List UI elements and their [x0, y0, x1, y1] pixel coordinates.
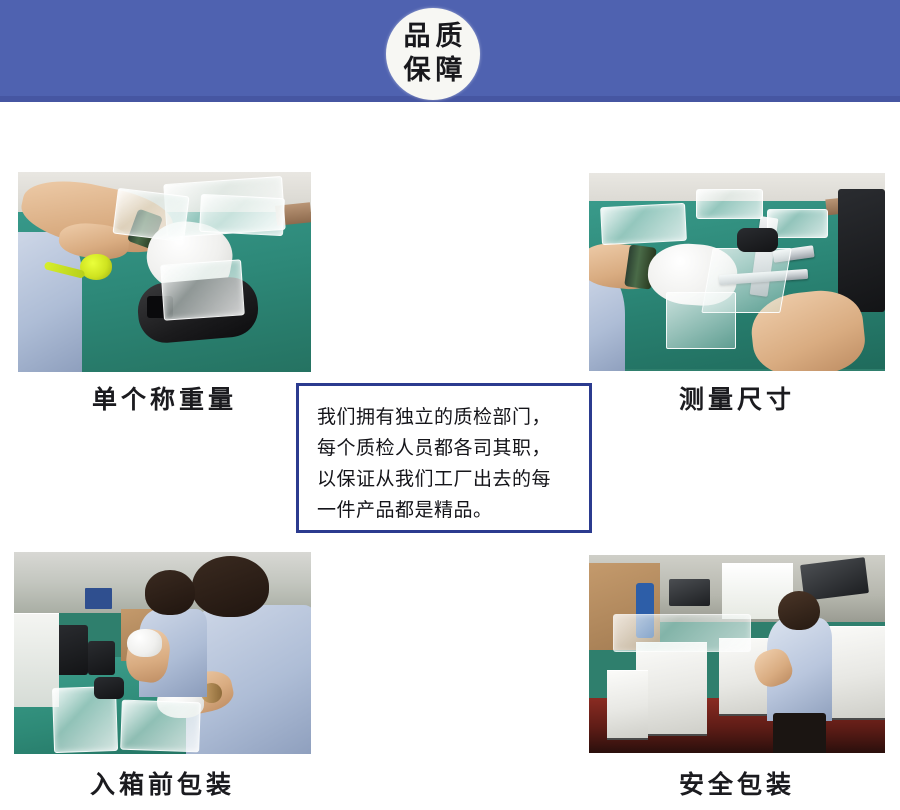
- bagged-parts-stack: [112, 188, 189, 242]
- photo-prepack-scene: [14, 552, 311, 754]
- photo-dimension-measuring: [589, 173, 885, 371]
- bagged-parts: [600, 202, 687, 244]
- caption-single-item-weighing: 单个称重量: [18, 380, 311, 416]
- seal-char-1: 品: [401, 20, 433, 54]
- acrylic-tray-on-bench: [666, 292, 736, 349]
- packed-products-row: [120, 700, 201, 753]
- quality-seal-badge: 品 质 保 障: [386, 8, 480, 100]
- photo-single-item-weighing: [18, 172, 311, 372]
- statement-line-3: 以保证从我们工厂出去的每: [317, 464, 575, 495]
- seal-char-4: 障: [433, 54, 465, 88]
- quality-statement-box: 我们拥有独立的质检部门， 每个质检人员都各司其职， 以保证从我们工厂出去的每 一…: [296, 383, 592, 533]
- quality-seal-text: 品 质 保 障: [386, 8, 480, 100]
- bench-machine: [838, 189, 885, 312]
- lower-body: [773, 713, 826, 753]
- item-on-scale: [160, 259, 245, 321]
- white-box-stack: [607, 670, 648, 740]
- bench-tool: [737, 228, 778, 252]
- statement-line-1: 我们拥有独立的质检部门，: [317, 402, 575, 433]
- worker-head: [778, 591, 819, 631]
- worker-back-head: [145, 570, 195, 614]
- caption-pre-boxing-packaging: 入箱前包装: [14, 765, 311, 801]
- yellow-tape-measure: [80, 254, 112, 280]
- photo-pre-boxing-packaging: [14, 552, 311, 754]
- photo-safe-packaging: [589, 555, 885, 753]
- caption-safe-packaging: 安全包装: [589, 765, 885, 801]
- bagged-parts: [696, 189, 763, 219]
- seal-char-2: 质: [433, 20, 465, 54]
- bench-fixture: [94, 677, 124, 699]
- ceiling-monitor: [669, 579, 710, 607]
- caption-dimension-measuring: 测量尺寸: [589, 380, 885, 416]
- statement-line-2: 每个质检人员都各司其职，: [317, 433, 575, 464]
- photo-safepack-scene: [589, 555, 885, 753]
- photo-weigh-scene: [18, 172, 311, 372]
- bagged-parts-stack: [199, 194, 285, 236]
- background-equipment: [85, 588, 112, 608]
- loose-clear-parts: [613, 614, 751, 652]
- white-glove: [127, 629, 163, 657]
- statement-line-4: 一件产品都是精品。: [317, 495, 575, 526]
- worker-front-head: [192, 556, 269, 617]
- photo-measure-scene: [589, 173, 885, 371]
- bench-machine: [88, 641, 115, 675]
- seal-char-3: 保: [401, 54, 433, 88]
